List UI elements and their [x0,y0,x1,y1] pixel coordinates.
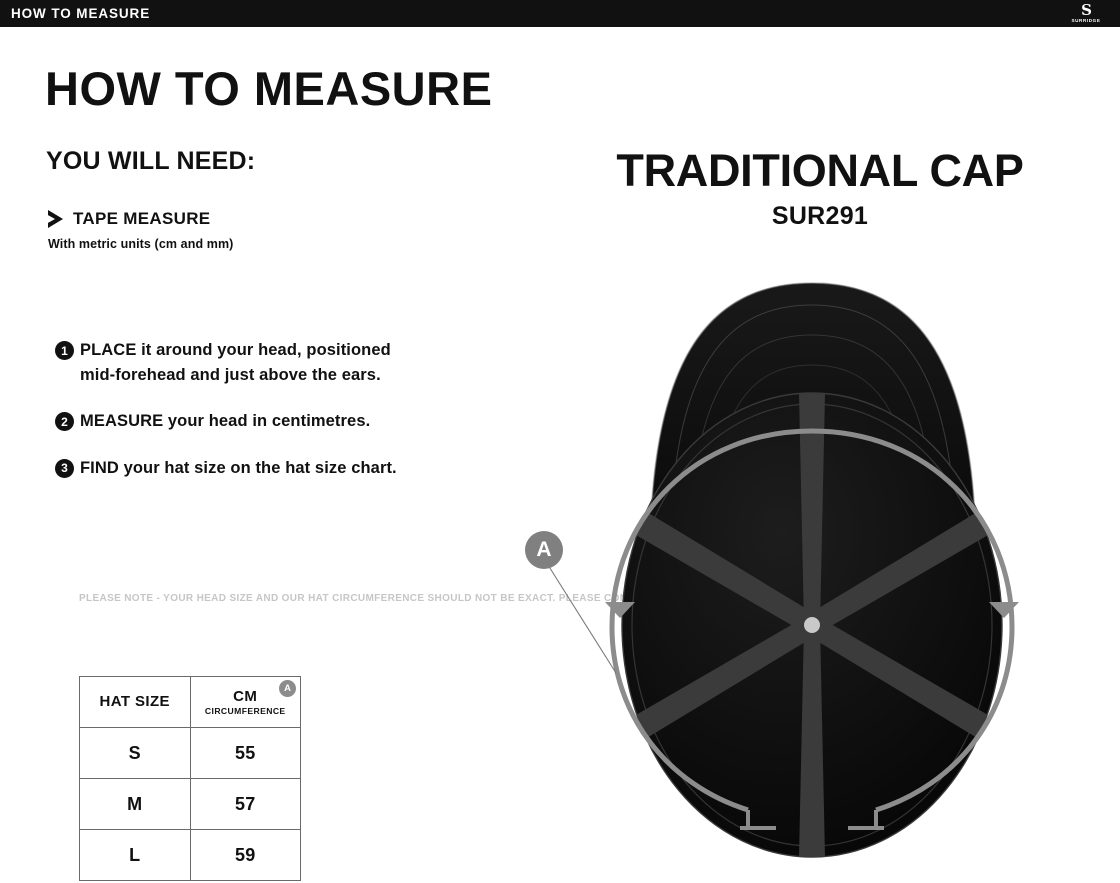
table-row: L 59 [80,830,301,881]
tool-item-tape-measure: TAPE MEASURE [48,209,210,229]
logo-wordmark: SURRIDGE [1071,18,1100,24]
step-text: MEASURE your head in centimetres. [80,409,370,434]
cm-value: 59 [235,845,256,865]
hat-size-value: L [129,845,140,865]
step-number-badge: 3 [55,459,74,478]
cap-illustration-svg [500,265,1120,883]
table-row: S 55 [80,728,301,779]
column-header-hat-size: HAT SIZE [80,677,191,728]
cm-value: 55 [235,743,256,763]
cap-crown [622,393,1002,857]
cap-diagram [500,265,1120,883]
tool-subtitle: With metric units (cm and mm) [48,237,233,251]
play-triangle-icon [48,210,63,228]
hat-size-value: S [129,743,141,763]
cm-value: 57 [235,794,256,814]
hat-size-chart-table: HAT SIZE CM CIRCUMFERENCE A S 55 M 57 L … [79,676,301,881]
you-will-need-heading: YOU WILL NEED: [46,147,255,176]
measurement-marker-a: A [525,531,563,569]
cell-cm: 55 [190,728,301,779]
product-title: TRADITIONAL CAP [560,145,1080,197]
surridge-logo: S SURRIDGE [1063,2,1109,26]
list-item: 3 FIND your hat size on the hat size cha… [55,456,415,481]
step-number-badge: 1 [55,341,74,360]
marker-leader-line [548,565,616,673]
step-number-badge: 2 [55,412,74,431]
column-header-circumference-label: CIRCUMFERENCE [191,706,301,717]
instruction-steps-list: 1 PLACE it around your head, positioned … [55,338,415,502]
cell-hat-size: L [80,830,191,881]
table-row: M 57 [80,779,301,830]
cell-cm: 59 [190,830,301,881]
cell-hat-size: M [80,779,191,830]
tool-label: TAPE MEASURE [73,209,210,229]
list-item: 1 PLACE it around your head, positioned … [55,338,415,387]
logo-s-mark: S [1081,4,1091,17]
crown-center-button [804,617,820,633]
cell-cm: 57 [190,779,301,830]
product-code: SUR291 [560,202,1080,231]
measurement-a-badge: A [279,680,296,697]
hat-size-value: M [127,794,142,814]
table-header-row: HAT SIZE CM CIRCUMFERENCE A [80,677,301,728]
list-item: 2 MEASURE your head in centimetres. [55,409,415,434]
top-header-title: HOW TO MEASURE [11,6,150,21]
column-header-hat-size-label: HAT SIZE [80,693,190,711]
step-text: PLACE it around your head, positioned mi… [80,338,415,387]
page-title: HOW TO MEASURE [45,61,492,117]
cell-hat-size: S [80,728,191,779]
top-header-bar: HOW TO MEASURE S SURRIDGE [0,0,1120,27]
step-text: FIND your hat size on the hat size chart… [80,456,397,481]
column-header-cm-circumference: CM CIRCUMFERENCE A [190,677,301,728]
